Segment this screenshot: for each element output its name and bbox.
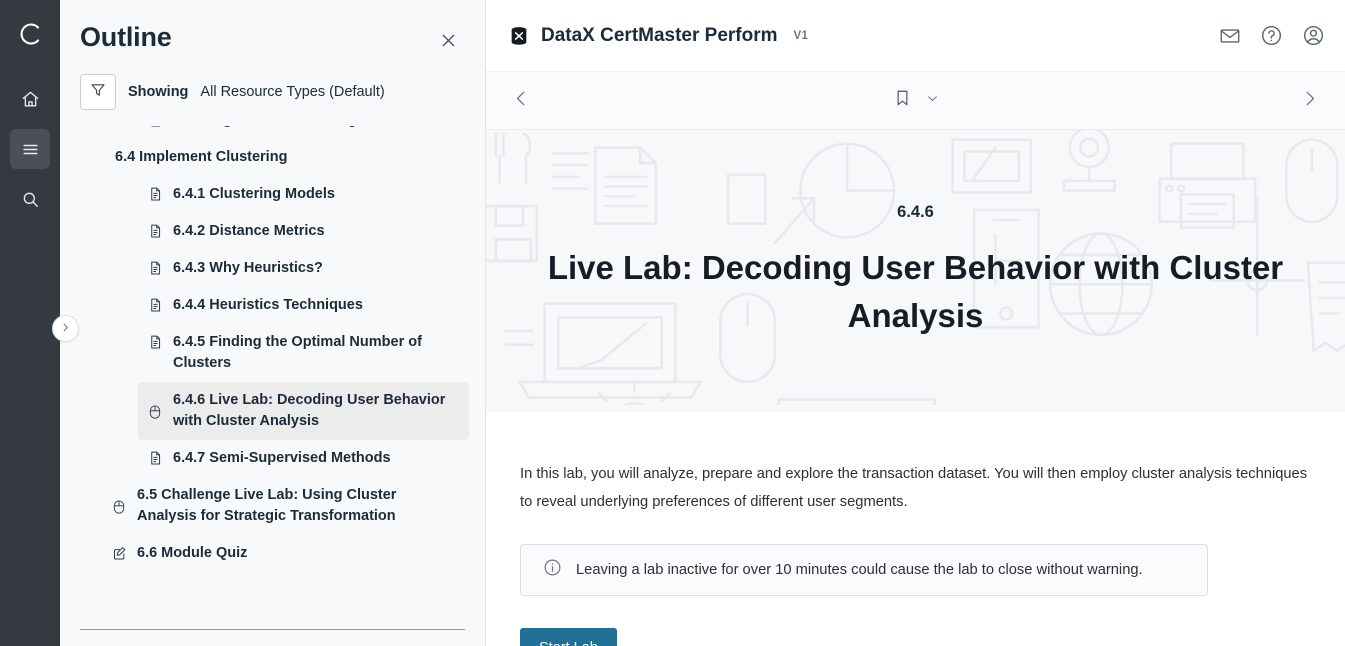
rail-menu[interactable] [10, 129, 50, 169]
rail-home[interactable] [10, 79, 50, 119]
outline-item[interactable]: 6.6 Module Quiz [102, 535, 469, 572]
outline-close-button[interactable] [435, 30, 461, 56]
document-icon [148, 297, 164, 313]
main-content: DataX CertMaster Perform V1 [486, 0, 1345, 646]
chevron-down-icon[interactable] [926, 92, 939, 110]
outline-item-label: 6.4.5 Finding the Optimal Number of Clus… [173, 332, 459, 374]
outline-scrollbar[interactable] [475, 256, 481, 615]
outline-item[interactable]: 6.4.1 Clustering Models [138, 176, 469, 213]
help-circle-icon[interactable] [1260, 24, 1283, 47]
outline-title: Outline [80, 22, 172, 53]
outline-item[interactable]: 6.4.3 Why Heuristics? [138, 250, 469, 287]
filter-row: Showing All Resource Types (Default) [60, 56, 485, 110]
document-icon [148, 126, 164, 128]
search-icon [21, 190, 40, 209]
outline-item-label: 6.6 Module Quiz [137, 543, 247, 564]
outline-item-label: 6.4.4 Heuristics Techniques [173, 295, 363, 316]
outline-item[interactable]: 6.4 Implement Clustering [80, 139, 469, 176]
outline-item[interactable]: 6.5 Challenge Live Lab: Using Cluster An… [102, 477, 469, 535]
page-title: Live Lab: Decoding User Behavior with Cl… [526, 244, 1305, 340]
outline-item-label: 6.3.3 Eigenvectors and Eigenvalues [173, 126, 419, 131]
start-lab-button[interactable]: Start Lab [520, 628, 617, 646]
document-icon [148, 334, 164, 350]
outline-item[interactable]: 6.4.5 Finding the Optimal Number of Clus… [138, 324, 469, 382]
info-circle-icon [543, 558, 562, 582]
left-icon-rail [0, 0, 60, 646]
outline-item-label: 6.4.7 Semi-Supervised Methods [173, 448, 391, 469]
lesson-number: 6.4.6 [526, 203, 1305, 222]
chevron-right-icon [60, 320, 71, 338]
inactivity-notice: Leaving a lab inactive for over 10 minut… [520, 544, 1208, 596]
topbar-icon-group [1219, 24, 1325, 47]
mail-icon[interactable] [1219, 25, 1241, 47]
quiz-icon [112, 545, 128, 561]
inactivity-notice-text: Leaving a lab inactive for over 10 minut… [576, 562, 1143, 578]
lesson-hero-banner: 6.4.6 Live Lab: Decoding User Behavior w… [486, 130, 1345, 412]
user-account-icon[interactable] [1302, 24, 1325, 47]
filter-button[interactable] [80, 74, 116, 110]
bookmark-control [893, 87, 939, 114]
outline-item[interactable]: 6.4.2 Distance Metrics [138, 213, 469, 250]
brand-version: V1 [794, 30, 809, 42]
bookmark-icon[interactable] [893, 87, 912, 114]
brand-name: DataX CertMaster Perform [541, 25, 778, 47]
outline-panel: Outline Showing All Resource Types (Defa… [60, 0, 486, 646]
outline-item-label: 6.4.3 Why Heuristics? [173, 258, 323, 279]
menu-icon [21, 140, 40, 159]
mouse-icon [148, 403, 164, 420]
document-icon [148, 450, 164, 466]
outline-header: Outline [60, 0, 485, 56]
lesson-body: In this lab, you will analyze, prepare a… [486, 412, 1345, 646]
outline-item[interactable]: 6.4.4 Heuristics Techniques [138, 287, 469, 324]
document-icon [148, 260, 164, 276]
outline-item-label: 6.4.6 Live Lab: Decoding User Behavior w… [173, 390, 459, 432]
outline-item-label: 6.4.2 Distance Metrics [173, 221, 325, 242]
document-icon [148, 223, 164, 239]
datax-logo-icon [508, 25, 530, 47]
lesson-navbar [486, 72, 1345, 130]
lesson-paragraph: In this lab, you will analyze, prepare a… [520, 460, 1310, 516]
chevron-right-icon [1300, 89, 1319, 113]
filter-icon [89, 81, 107, 104]
outline-item-label: 6.4.1 Clustering Models [173, 184, 335, 205]
app-topbar: DataX CertMaster Perform V1 [486, 0, 1345, 72]
hero-inner: 6.4.6 Live Lab: Decoding User Behavior w… [486, 203, 1345, 340]
outline-item-label: 6.5 Challenge Live Lab: Using Cluster An… [137, 485, 459, 527]
sidebar-collapse-toggle[interactable] [52, 315, 79, 342]
next-page-button[interactable] [1300, 89, 1319, 113]
showing-value[interactable]: All Resource Types (Default) [200, 84, 384, 100]
outline-item[interactable]: 6.4.6 Live Lab: Decoding User Behavior w… [138, 382, 469, 440]
outline-item[interactable]: 6.3.3 Eigenvectors and Eigenvalues [138, 126, 469, 139]
mouse-icon [112, 498, 128, 515]
prev-page-button[interactable] [512, 89, 531, 113]
rail-search[interactable] [10, 179, 50, 219]
app-root: Outline Showing All Resource Types (Defa… [0, 0, 1345, 646]
home-icon [21, 90, 40, 109]
document-icon [148, 186, 164, 202]
c-logo-icon[interactable] [10, 14, 50, 54]
showing-label: Showing [128, 84, 188, 100]
outline-list: 6.3.3 Eigenvectors and Eigenvalues6.4 Im… [60, 126, 485, 615]
close-icon [439, 31, 458, 55]
brand: DataX CertMaster Perform V1 [508, 25, 808, 47]
outline-item[interactable]: 6.4.7 Semi-Supervised Methods [138, 440, 469, 477]
chevron-left-icon [512, 89, 531, 113]
outline-item-label: 6.4 Implement Clustering [115, 147, 287, 168]
rail-icon-group [10, 79, 50, 219]
